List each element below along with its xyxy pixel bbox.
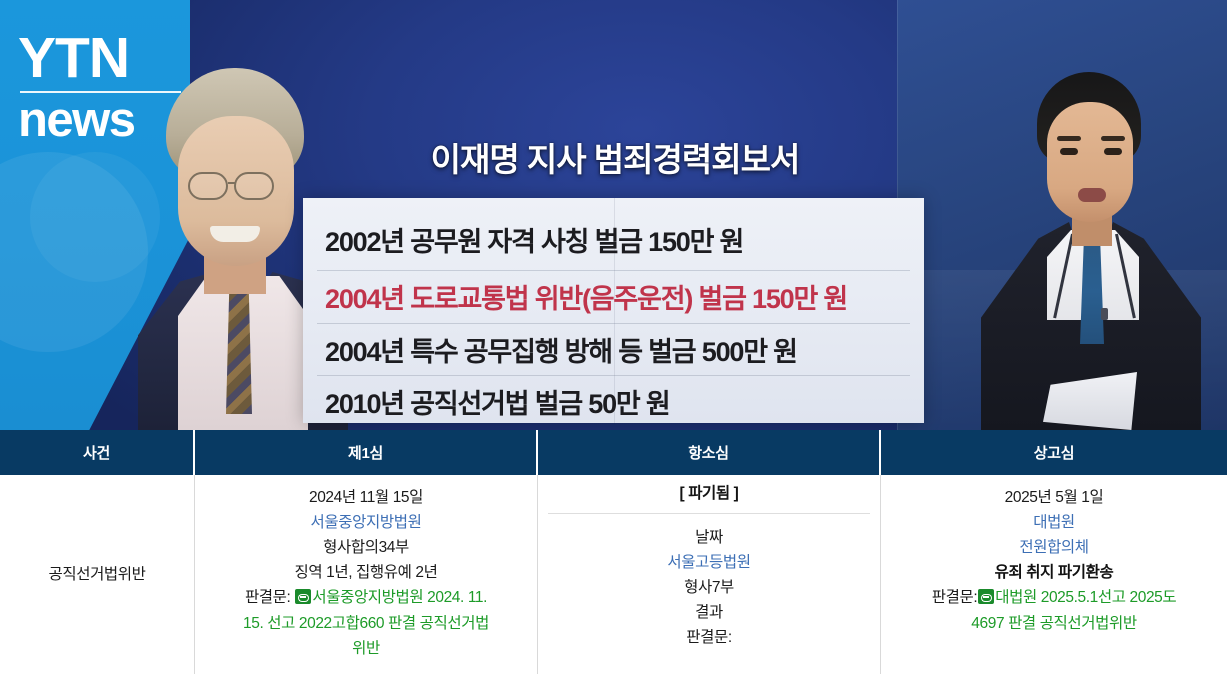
final-appeal-result: 유죄 취지 파기환송	[891, 560, 1217, 585]
graphic-row-separator	[317, 375, 910, 376]
table-header-case: 사건	[0, 430, 195, 475]
final-appeal-ruling-link-part2[interactable]: 4697 판결 공직선거법위반	[891, 611, 1217, 636]
graphic-record-row-highlighted: 2004년 도로교통법 위반(음주운전) 벌금 150만 원	[303, 277, 924, 316]
table-cell-case: 공직선거법위반	[0, 475, 195, 674]
politician-glasses-bridge	[228, 182, 236, 184]
page-root: YTN news 이재명 지사 범죄경력회보서 2002년 공무원 자격 사칭 …	[0, 0, 1227, 674]
table-cell-final-appeal: 2025년 5월 1일 대법원 전원합의체 유죄 취지 파기환송 판결문:대법원…	[881, 475, 1227, 674]
final-appeal-division[interactable]: 전원합의체	[891, 535, 1217, 560]
broadcast-graphic-card: 2002년 공무원 자격 사칭 벌금 150만 원 2004년 도로교통법 위반…	[303, 198, 924, 423]
appeal-date: 날짜	[548, 525, 870, 550]
anchor-face	[1047, 102, 1133, 222]
appeal-result: 결과	[548, 600, 870, 625]
graphic-record-row: 2004년 특수 공무집행 방해 등 벌금 500만 원	[303, 330, 924, 369]
video-player-frame[interactable]: YTN news 이재명 지사 범죄경력회보서 2002년 공무원 자격 사칭 …	[0, 0, 1227, 430]
first-instance-ruling-label: 판결문:	[245, 589, 291, 606]
first-instance-date: 2024년 11월 15일	[205, 485, 527, 510]
table-header-first-instance: 제1심	[195, 430, 538, 475]
appeal-details: 날짜 서울고등법원 형사7부 결과 판결문:	[548, 514, 870, 651]
anchor-eye-left	[1060, 148, 1078, 155]
case-name: 공직선거법위반	[48, 562, 145, 587]
news-anchor-figure	[975, 72, 1205, 430]
appeal-court[interactable]: 서울고등법원	[548, 550, 870, 575]
graphic-row-separator	[317, 323, 910, 324]
final-appeal-date: 2025년 5월 1일	[891, 485, 1217, 510]
final-appeal-court[interactable]: 대법원	[891, 510, 1217, 535]
graphic-row-separator	[317, 270, 910, 271]
final-appeal-ruling-label: 판결문:	[932, 589, 978, 606]
table-cell-first-instance: 2024년 11월 15일 서울중앙지방법원 형사합의34부 징역 1년, 집행…	[195, 475, 538, 674]
court-proceedings-table: 사건 제1심 항소심 상고심 공직선거법위반 2024년 11월 15일 서울중…	[0, 430, 1227, 674]
anchor-mouth	[1078, 188, 1106, 202]
first-instance-ruling-link-part3[interactable]: 위반	[205, 636, 527, 661]
first-instance-ruling-link-part1[interactable]: 서울중앙지방법원 2024. 11.	[312, 589, 487, 606]
anchor-eyebrow-right	[1101, 136, 1125, 141]
table-row: 공직선거법위반 2024년 11월 15일 서울중앙지방법원 형사합의34부 징…	[0, 475, 1227, 674]
final-appeal-ruling-link-part1[interactable]: 대법원 2025.5.1선고 2025도	[995, 589, 1176, 606]
table-header-final-appeal: 상고심	[881, 430, 1227, 475]
first-instance-court[interactable]: 서울중앙지방법원	[205, 510, 527, 535]
anchor-tie	[1080, 240, 1104, 344]
politician-glasses-right	[234, 172, 274, 200]
table-header-row: 사건 제1심 항소심 상고심	[0, 430, 1227, 475]
anchor-eyebrow-left	[1057, 136, 1081, 141]
final-appeal-ruling: 판결문:대법원 2025.5.1선고 2025도 4697 판결 공직선거법위반	[891, 585, 1217, 635]
politician-glasses-left	[188, 172, 228, 200]
graphic-record-row: 2010년 공직선거법 벌금 50만 원	[303, 382, 924, 421]
first-instance-result: 징역 1년, 집행유예 2년	[205, 560, 527, 585]
first-instance-ruling-link-part2[interactable]: 15. 선고 2022고합660 판결 공직선거법	[205, 611, 527, 636]
anchor-eye-right	[1104, 148, 1122, 155]
first-instance-ruling: 판결문: 서울중앙지방법원 2024. 11. 15. 선고 2022고합660…	[205, 585, 527, 660]
anchor-lapel-microphone	[1101, 308, 1108, 320]
politician-mouth	[210, 226, 260, 242]
appeal-status-badge: [ 파기됨 ]	[548, 475, 870, 514]
table-cell-appeal: [ 파기됨 ] 날짜 서울고등법원 형사7부 결과 판결문:	[538, 475, 881, 674]
appeal-ruling-label: 판결문:	[548, 625, 870, 650]
graphic-record-row: 2002년 공무원 자격 사칭 벌금 150만 원	[303, 220, 924, 259]
link-icon[interactable]	[295, 589, 311, 604]
politician-tie	[226, 294, 252, 414]
link-icon[interactable]	[978, 589, 994, 604]
first-instance-division: 형사합의34부	[205, 535, 527, 560]
table-header-appeal: 항소심	[538, 430, 881, 475]
appeal-division: 형사7부	[548, 575, 870, 600]
broadcast-graphic-title: 이재명 지사 범죄경력회보서	[355, 133, 875, 181]
